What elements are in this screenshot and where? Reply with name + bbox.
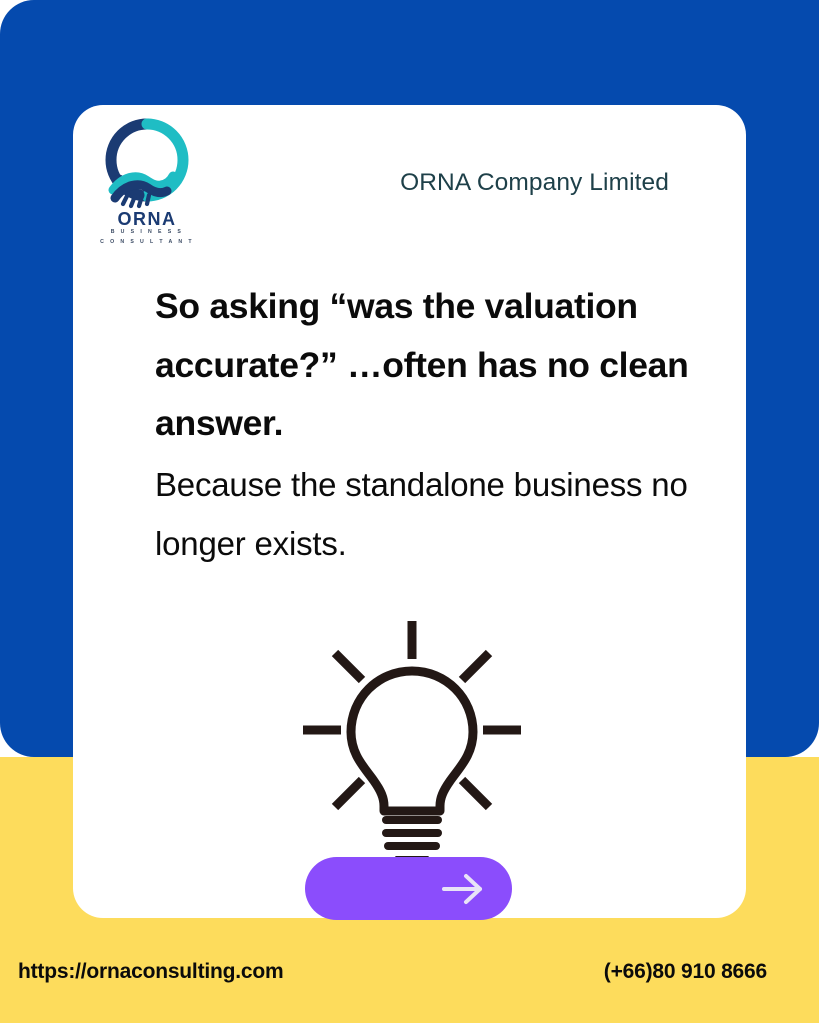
footer-website-link[interactable]: https://ornaconsulting.com bbox=[18, 960, 283, 984]
footer-phone-number[interactable]: (+66)80 910 8666 bbox=[604, 960, 767, 984]
message-block: So asking “was the valuation accurate?” … bbox=[155, 277, 715, 573]
logo-wordmark: ORNA bbox=[99, 210, 195, 228]
lightbulb-icon bbox=[297, 615, 527, 870]
content-card: ORNA B U S I N E S S C O N S U L T A N T… bbox=[73, 105, 746, 918]
company-name: ORNA Company Limited bbox=[400, 169, 669, 197]
headline-text: So asking “was the valuation accurate?” … bbox=[155, 277, 715, 453]
card-header: ORNA B U S I N E S S C O N S U L T A N T… bbox=[73, 105, 746, 265]
poster-canvas: ORNA B U S I N E S S C O N S U L T A N T… bbox=[0, 0, 819, 1023]
logo-tagline-consultant: C O N S U L T A N T bbox=[99, 240, 195, 245]
subline-text: Because the standalone business no longe… bbox=[155, 453, 715, 573]
arrow-right-icon bbox=[440, 872, 486, 906]
footer-bar: https://ornaconsulting.com (+66)80 910 8… bbox=[0, 960, 819, 1008]
orna-logo[interactable]: ORNA B U S I N E S S C O N S U L T A N T bbox=[99, 118, 195, 250]
logo-tagline-business: B U S I N E S S bbox=[99, 230, 195, 235]
cta-arrow-button[interactable] bbox=[305, 857, 512, 920]
orna-logo-mark-icon bbox=[99, 118, 195, 214]
